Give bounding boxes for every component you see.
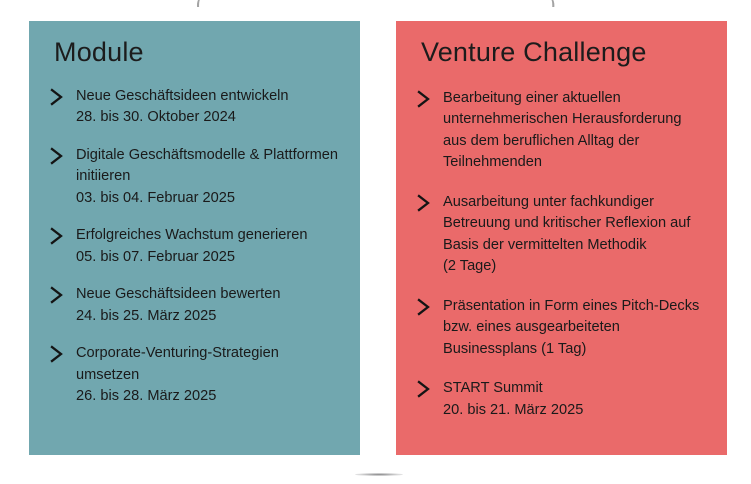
list-item: START Summit 20. bis 21. März 2025 [410,378,713,421]
chevron-right-icon [49,344,67,364]
chevron-right-icon [416,379,434,399]
list-item-line: Ausarbeitung unter fachkundiger [443,192,713,214]
list-item-line: 26. bis 28. März 2025 [76,386,346,408]
list-item-text: Neue Geschäftsideen entwickeln 28. bis 3… [76,86,346,129]
page-fold-shadow [355,473,403,476]
list-item: Corporate-Venturing-Strategien umsetzen … [43,343,346,408]
list-item-line: 28. bis 30. Oktober 2024 [76,107,346,129]
list-item: Digitale Geschäftsmodelle & Plattformen … [43,145,346,210]
list-item: Bearbeitung einer aktuellen unternehmeri… [410,88,713,174]
chevron-right-icon [49,146,67,166]
chevron-right-icon [49,87,67,107]
panel-venture-challenge-item-list: Bearbeitung einer aktuellen unternehmeri… [410,88,713,422]
panels-container: Module Neue Geschäftsideen entwickeln 28… [0,0,751,484]
list-item-text: START Summit 20. bis 21. März 2025 [443,378,713,421]
list-item-line: initiieren [76,166,346,188]
list-item-line: Corporate-Venturing-Strategien [76,343,346,365]
list-item-line: Basis der vermittelten Methodik [443,235,713,257]
panel-module-title: Module [54,38,346,68]
list-item-line: (2 Tage) [443,256,713,278]
list-item-line: Betreuung und kritischer Reflexion auf [443,213,713,235]
list-item-line: Teilnehmenden [443,152,713,174]
chevron-right-icon [416,193,434,213]
list-item: Ausarbeitung unter fachkundiger Betreuun… [410,192,713,278]
list-item-line: aus dem beruflichen Alltag der [443,131,713,153]
panel-module-item-list: Neue Geschäftsideen entwickeln 28. bis 3… [43,86,346,408]
list-item: Präsentation in Form eines Pitch-Decks b… [410,296,713,361]
list-item: Neue Geschäftsideen entwickeln 28. bis 3… [43,86,346,129]
list-item-line: Digitale Geschäftsmodelle & Plattformen [76,145,346,167]
list-item-line: 05. bis 07. Februar 2025 [76,247,346,269]
list-item-text: Neue Geschäftsideen bewerten 24. bis 25.… [76,284,346,327]
panel-module: Module Neue Geschäftsideen entwickeln 28… [29,21,360,455]
list-item-line: Neue Geschäftsideen bewerten [76,284,346,306]
list-item-text: Präsentation in Form eines Pitch-Decks b… [443,296,713,361]
list-item-line: 20. bis 21. März 2025 [443,400,713,422]
list-item-text: Ausarbeitung unter fachkundiger Betreuun… [443,192,713,278]
list-item-line: unternehmerischen Herausforderung [443,109,713,131]
list-item-line: Erfolgreiches Wachstum generieren [76,225,346,247]
list-item-line: 24. bis 25. März 2025 [76,306,346,328]
panel-venture-challenge: Venture Challenge Bearbeitung einer aktu… [396,21,727,455]
list-item-text: Corporate-Venturing-Strategien umsetzen … [76,343,346,408]
panel-venture-challenge-title: Venture Challenge [421,38,713,68]
list-item-line: Businessplans (1 Tag) [443,339,713,361]
chevron-right-icon [49,285,67,305]
list-item-line: Bearbeitung einer aktuellen [443,88,713,110]
list-item-text: Bearbeitung einer aktuellen unternehmeri… [443,88,713,174]
list-item-line: 03. bis 04. Februar 2025 [76,188,346,210]
list-item-line: Präsentation in Form eines Pitch-Decks [443,296,713,318]
list-item-line: START Summit [443,378,713,400]
list-item-text: Digitale Geschäftsmodelle & Plattformen … [76,145,346,210]
list-item: Neue Geschäftsideen bewerten 24. bis 25.… [43,284,346,327]
list-item: Erfolgreiches Wachstum generieren 05. bi… [43,225,346,268]
chevron-right-icon [49,226,67,246]
chevron-right-icon [416,297,434,317]
list-item-line: bzw. eines ausgearbeiteten [443,317,713,339]
list-item-line: Neue Geschäftsideen entwickeln [76,86,346,108]
list-item-line: umsetzen [76,365,346,387]
chevron-right-icon [416,89,434,109]
list-item-text: Erfolgreiches Wachstum generieren 05. bi… [76,225,346,268]
